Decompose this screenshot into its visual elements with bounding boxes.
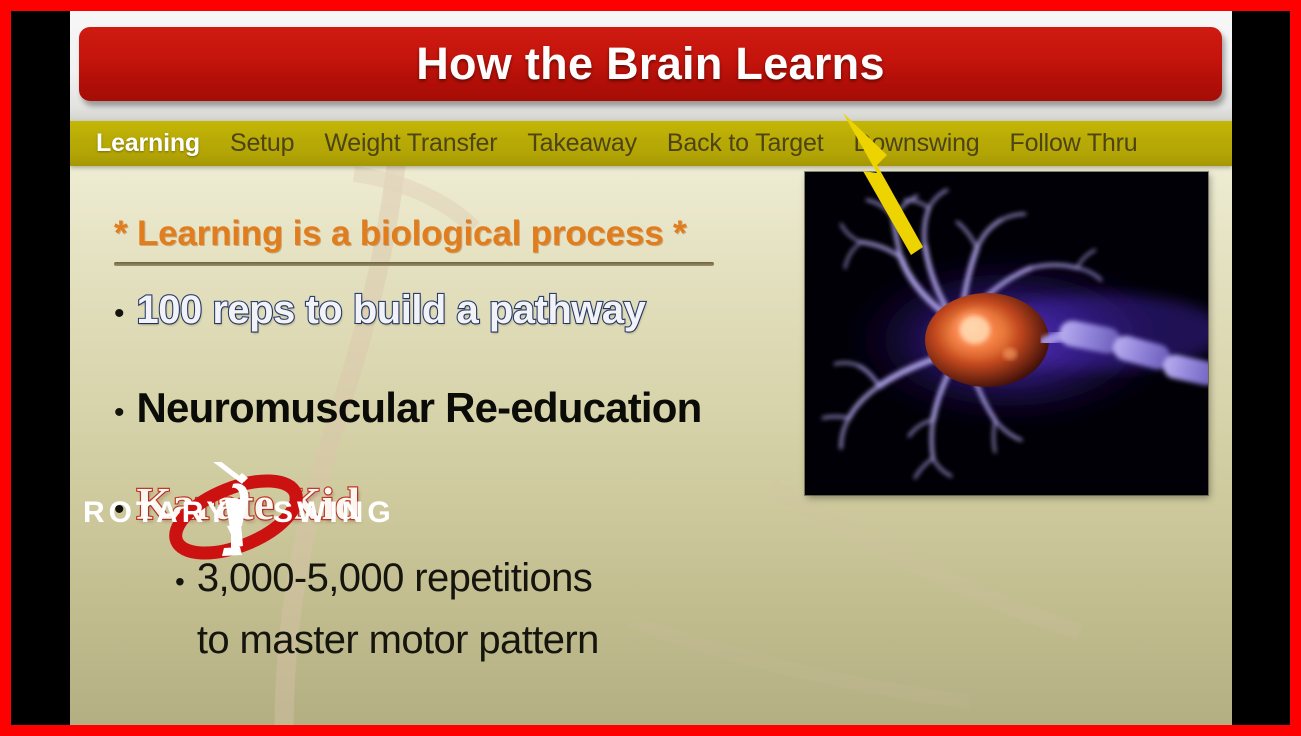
bullet-text-neuromuscular: Neuromuscular Re-education xyxy=(137,384,702,432)
nav-item-back-to-target[interactable]: Back to Target xyxy=(667,129,824,158)
nav-item-downswing[interactable]: Downswing xyxy=(853,129,979,158)
nav-item-learning[interactable]: Learning xyxy=(96,129,200,158)
section-nav[interactable]: Learning Setup Weight Transfer Takeaway … xyxy=(70,121,1232,166)
bullet-item-2: • Neuromuscular Re-education xyxy=(114,384,702,432)
sub-bullet-marker: • xyxy=(175,568,185,596)
bullet-text-reps: 100 reps to build a pathway xyxy=(137,288,646,333)
sub-bullet-item-1: • 3,000-5,000 repetitions xyxy=(175,556,592,601)
bullet-item-1: • 100 reps to build a pathway xyxy=(114,288,645,333)
red-border-frame: How the Brain Learns Learning Setup Weig… xyxy=(0,0,1301,736)
nav-item-follow-thru[interactable]: Follow Thru xyxy=(1010,129,1138,158)
heading-underline xyxy=(114,262,714,266)
bullet-text-karate-kid: Karate Kid xyxy=(137,478,361,530)
title-band: How the Brain Learns xyxy=(70,11,1232,121)
presentation-slide: How the Brain Learns Learning Setup Weig… xyxy=(70,11,1232,725)
bullet-marker: • xyxy=(114,495,125,525)
bullet-marker: • xyxy=(114,299,125,329)
nav-item-takeaway[interactable]: Takeaway xyxy=(527,129,637,158)
video-letterbox: How the Brain Learns Learning Setup Weig… xyxy=(11,11,1290,725)
title-plate: How the Brain Learns xyxy=(79,27,1222,101)
nav-item-weight-transfer[interactable]: Weight Transfer xyxy=(324,129,497,158)
sub-bullet-text-motor-pattern: to master motor pattern xyxy=(197,618,599,663)
bullet-marker: • xyxy=(114,398,125,428)
neuron-illustration xyxy=(805,172,1208,495)
sub-bullet-text-repetitions: 3,000-5,000 repetitions xyxy=(197,556,592,601)
page-title: How the Brain Learns xyxy=(416,38,885,90)
sub-bullet-item-2: • to master motor pattern xyxy=(175,618,599,663)
nav-item-setup[interactable]: Setup xyxy=(230,129,294,158)
bullet-item-3: • Karate Kid xyxy=(114,478,360,530)
content-heading: * Learning is a biological process * xyxy=(114,214,686,254)
neuron-image xyxy=(805,172,1208,495)
